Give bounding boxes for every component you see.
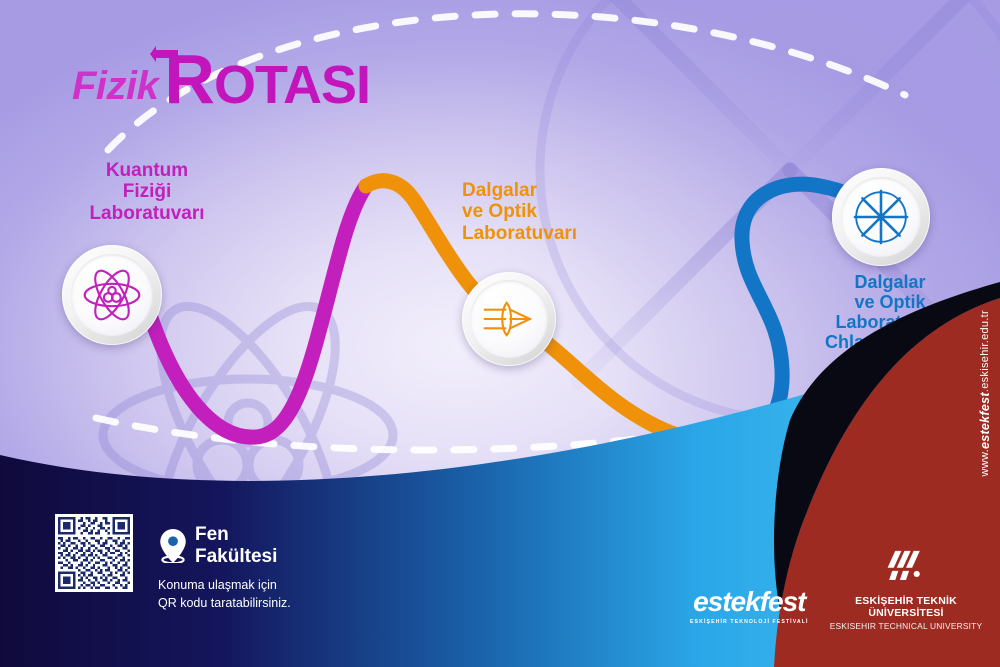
venue-name: Fen Fakültesi (195, 524, 277, 567)
atom-icon (81, 264, 143, 326)
stop-label-line: ve Optik (800, 292, 980, 312)
qr-code-icon[interactable] (55, 514, 133, 592)
estekfest-subtitle: ESKİŞEHİR TEKNOLOJİ FESTİVALİ (690, 619, 809, 625)
estekfest-wordmark: estekfest (690, 588, 809, 616)
venue-note-line: Konuma ulaşmak için (158, 576, 291, 594)
chladni-pattern-icon (850, 186, 912, 248)
website-suffix: .eskisehir.edu.tr (979, 310, 991, 392)
qr-code-svg (58, 517, 130, 589)
title-word-rotasi: ROTASI (164, 44, 370, 114)
rota-arrow-icon (150, 46, 180, 80)
footer-content: Fen Fakültesi Konuma ulaşmak için QR kod… (0, 437, 1000, 667)
stop-node-optics[interactable] (462, 272, 556, 366)
lens-optics-icon (480, 290, 538, 348)
stop-label-line: Laboratuvarı (52, 203, 242, 224)
university-logo[interactable]: ESKİŞEHİR TEKNİK ÜNİVERSİTESİ ESKISEHIR … (818, 549, 994, 631)
location-pin-icon (160, 529, 186, 563)
venue-note: Konuma ulaşmak için QR kodu taratabilirs… (158, 576, 291, 612)
node-inner (71, 254, 153, 336)
website-brand: estekfest (978, 393, 992, 450)
venue-name-line: Fakültesi (195, 546, 277, 567)
stop-label-line: Dalgalar (462, 180, 662, 201)
stop-node-quantum[interactable] (62, 245, 162, 345)
etu-monogram-icon (883, 549, 929, 585)
stop-label-quantum: Kuantum Fiziği Laboratuvarı (52, 160, 242, 224)
stop-label-line: Fiziği (52, 181, 242, 202)
node-inner (470, 280, 548, 358)
stop-label-line: Laboratuvarı (462, 223, 662, 244)
university-name-tr: ESKİŞEHİR TEKNİK ÜNİVERSİTESİ (818, 595, 994, 619)
stop-label-optics: Dalgalar ve Optik Laboratuvarı (462, 180, 662, 244)
stop-label-line: Laboratuvarı (800, 312, 980, 332)
title-word-fizik: Fizik (72, 66, 158, 114)
page-title: Fizik ROTASI (72, 44, 370, 114)
venue-block: Fen Fakültesi (160, 524, 277, 567)
venue-note-line: QR kodu taratabilirsiniz. (158, 594, 291, 612)
stop-label-line: ve Optik (462, 201, 662, 222)
estekfest-logo[interactable]: estekfest ESKİŞEHİR TEKNOLOJİ FESTİVALİ (690, 588, 809, 625)
stop-label-line: Kuantum (52, 160, 242, 181)
node-inner (841, 177, 921, 257)
website-prefix: www. (979, 450, 991, 477)
university-name-en: ESKISEHIR TECHNICAL UNIVERSITY (818, 621, 994, 631)
stop-label-line: Dalgalar (800, 272, 980, 292)
stop-label-line: Chladni Deneyi (800, 332, 980, 352)
poster-canvas: Fizik ROTASI Kuantum Fiziği Laboratuvarı (0, 0, 1000, 667)
venue-name-line: Fen (195, 524, 277, 545)
stop-node-chladni[interactable] (832, 168, 930, 266)
website-url[interactable]: www.estekfest.eskisehir.edu.tr (978, 310, 992, 477)
title-rotasi-text: ROTASI (164, 44, 370, 114)
stop-label-chladni: Dalgalar ve Optik Laboratuvarı Chladni D… (800, 272, 980, 353)
